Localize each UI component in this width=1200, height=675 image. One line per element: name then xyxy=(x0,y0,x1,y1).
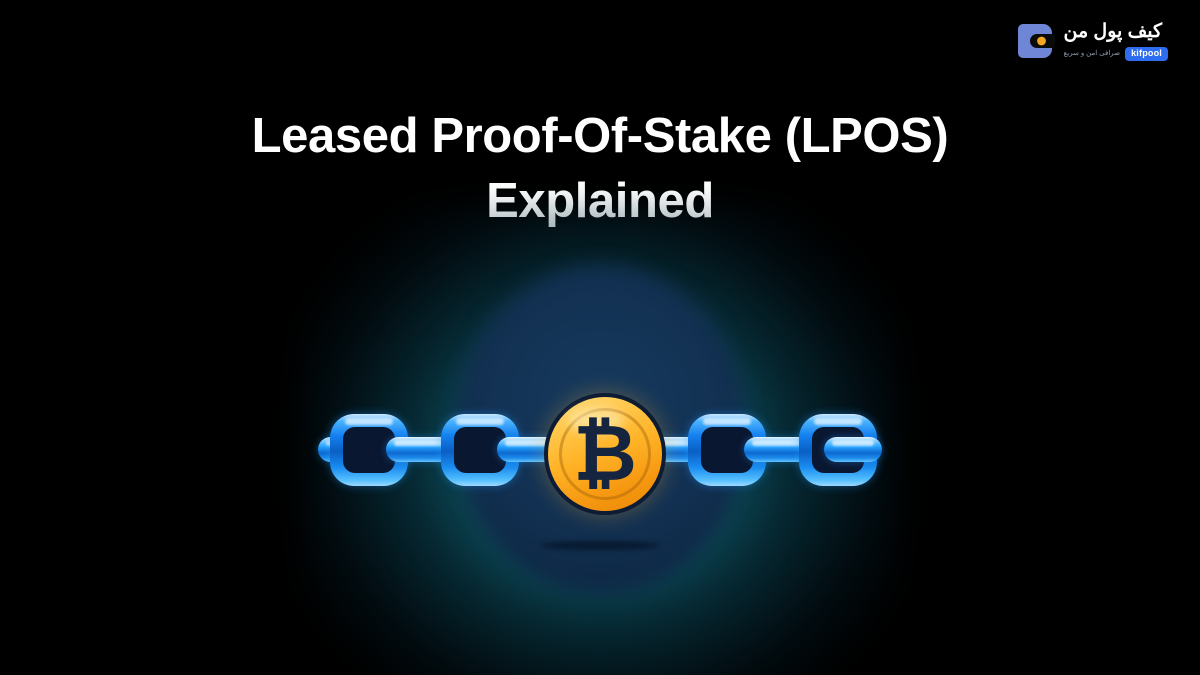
brand-text-group: کیف پول من kifpool صرافی امن و سریع xyxy=(1064,22,1168,61)
brand-subtitle-row: kifpool صرافی امن و سریع xyxy=(1064,47,1168,61)
page-title-line-1: Leased Proof-Of-Stake (LPOS) xyxy=(0,104,1200,169)
bitcoin-symbol: ₿ xyxy=(548,397,662,511)
brand-tagline: صرافی امن و سریع xyxy=(1064,50,1121,57)
bitcoin-coin-icon: ₿ xyxy=(544,393,666,515)
chain-bar-highlight xyxy=(832,440,874,446)
brand-logo: کیف پول من kifpool صرافی امن و سریع xyxy=(1015,18,1168,64)
coin-shadow xyxy=(540,541,660,550)
poster-canvas: کیف پول من kifpool صرافی امن و سریع Leas… xyxy=(0,0,1200,675)
wallet-icon xyxy=(1015,18,1055,64)
chain-ring-highlight xyxy=(456,418,504,425)
illustration-scene: ₿ xyxy=(0,225,1200,675)
brand-name: کیف پول من xyxy=(1064,22,1163,41)
chain-bar xyxy=(824,437,882,462)
brand-badge: kifpool xyxy=(1125,47,1168,61)
chain-ring-highlight xyxy=(703,418,751,425)
chain-ring-highlight xyxy=(345,418,393,425)
chain-ring-highlight xyxy=(814,418,862,425)
